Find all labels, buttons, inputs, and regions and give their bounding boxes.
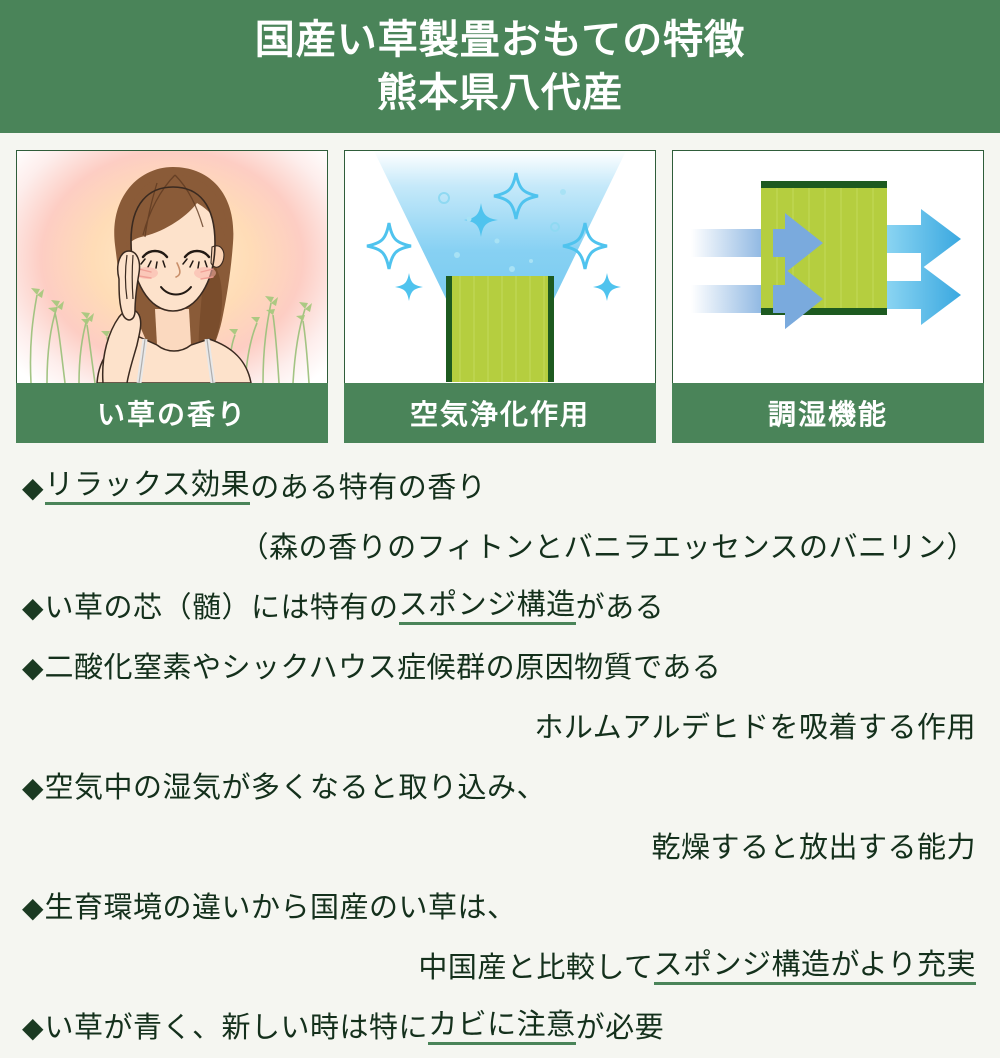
- feature-text: 生育環境の違いから国産のい草は、: [45, 894, 517, 923]
- feature-bullet-line: ◆い草の芯（髄）には特有のスポンジ構造がある: [22, 578, 982, 638]
- feature-continuation-line: 中国産と比較してスポンジ構造がより充実: [22, 938, 982, 998]
- bullet-diamond-icon: ◆: [22, 1014, 44, 1042]
- tatami-mat-icon: [446, 276, 554, 382]
- bullet-diamond-icon: ◆: [22, 654, 44, 682]
- outgoing-arrow-lower: [887, 265, 961, 325]
- feature-text: 乾燥すると放出する能力: [651, 834, 976, 863]
- feature-continuation-line: ホルムアルデヒドを吸着する作用: [22, 698, 982, 758]
- sparkle-star-right: [563, 223, 607, 269]
- page-title-line2: 熊本県八代産: [377, 67, 623, 120]
- highlighted-term: カビに注意: [428, 1011, 576, 1045]
- feature-text: い草が青く、新しい時は特に: [45, 1014, 429, 1043]
- feature-card-scent: い草の香り: [16, 150, 328, 443]
- infographic-page: 国産い草製畳おもての特徴 熊本県八代産: [0, 0, 1000, 1000]
- feature-bullet-line: ◆生育環境の違いから国産のい草は、: [22, 878, 982, 938]
- sparkle-star-top: [494, 173, 538, 219]
- feature-bullet-line: ◆い草が青く、新しい時は特にカビに注意が必要: [22, 998, 982, 1058]
- feature-text: 中国産と比較して: [418, 954, 653, 983]
- feature-text: が必要: [576, 1014, 665, 1043]
- card-label-air-purification: 空気浄化作用: [344, 383, 656, 443]
- feature-continuation-line: （森の香りのフィトンとバニラエッセンスのバニリン）: [22, 518, 982, 578]
- feature-text: い草の芯（髄）には特有の: [45, 594, 399, 623]
- bubble-group: [439, 189, 566, 272]
- feature-text: がある: [576, 594, 665, 623]
- bullet-diamond-icon: ◆: [22, 894, 44, 922]
- feature-bullet-line: ◆空気中の湿気が多くなると取り込み、: [22, 758, 982, 818]
- bullet-diamond-icon: ◆: [22, 774, 44, 802]
- feature-text: （森の香りのフィトンとバニラエッセンスのバニリン）: [240, 534, 976, 563]
- feature-text: ホルムアルデヒドを吸着する作用: [534, 714, 976, 743]
- highlighted-term: スポンジ構造: [399, 591, 576, 625]
- card-image-scent: [16, 150, 328, 383]
- feature-card-humidity-control: 調湿機能: [672, 150, 984, 443]
- relaxing-woman-illustration: [57, 159, 287, 383]
- feature-card-row: い草の香り: [16, 150, 984, 443]
- page-title-line1: 国産い草製畳おもての特徴: [255, 14, 745, 67]
- sparkle-filled-lower-right: [593, 273, 621, 301]
- sparkle-filled-lower-left: [395, 273, 423, 301]
- feature-bullet-line: ◆リラックス効果のある特有の香り: [22, 458, 982, 518]
- card-image-humidity-control: [672, 150, 984, 383]
- card-image-air-purification: [344, 150, 656, 383]
- sparkle-star-left: [367, 223, 411, 269]
- feature-text: 空気中の湿気が多くなると取り込み、: [45, 774, 547, 803]
- feature-card-air-purification: 空気浄化作用: [344, 150, 656, 443]
- feature-continuation-line: 乾燥すると放出する能力: [22, 818, 982, 878]
- page-header: 国産い草製畳おもての特徴 熊本県八代産: [0, 0, 1000, 133]
- feature-text: 二酸化窒素やシックハウス症候群の原因物質である: [45, 654, 722, 683]
- humidity-airflow-diagram: [673, 151, 983, 383]
- bullet-diamond-icon: ◆: [22, 474, 44, 502]
- highlighted-term: リラックス効果: [45, 471, 251, 505]
- feature-list: ◆リラックス効果のある特有の香り（森の香りのフィトンとバニラエッセンスのバニリン…: [0, 458, 1000, 1058]
- highlighted-term: スポンジ構造がより充実: [654, 951, 976, 985]
- card-label-humidity-control: 調湿機能: [672, 383, 984, 443]
- outgoing-arrow-upper: [887, 209, 961, 269]
- feature-bullet-line: ◆二酸化窒素やシックハウス症候群の原因物質である: [22, 638, 982, 698]
- card-label-scent: い草の香り: [16, 383, 328, 443]
- feature-text: のある特有の香り: [250, 474, 486, 503]
- bullet-diamond-icon: ◆: [22, 594, 44, 622]
